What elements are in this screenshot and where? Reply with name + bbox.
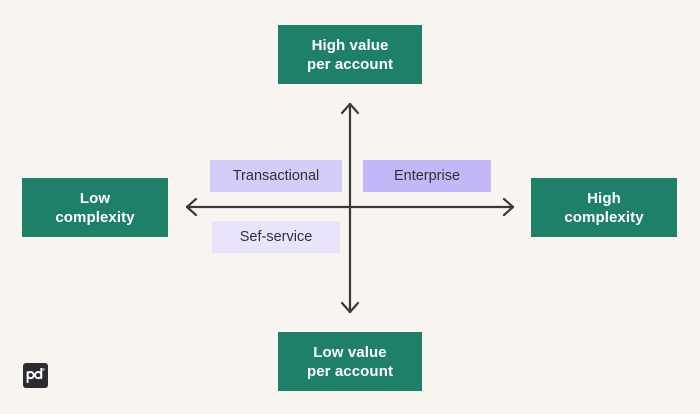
axis-label-high-value: High value per account — [278, 25, 422, 84]
segment-enterprise: Enterprise — [363, 160, 491, 192]
axis-label-low-value: Low value per account — [278, 332, 422, 391]
axis-label-high-complexity: High complexity — [531, 178, 677, 237]
axis-label-high-complexity-line1: High — [564, 189, 643, 208]
axis-label-low-complexity-line2: complexity — [55, 208, 134, 227]
pandadoc-logo — [23, 363, 48, 388]
axis-label-high-value-line1: High value — [307, 36, 393, 55]
axis-label-high-complexity-line2: complexity — [564, 208, 643, 227]
diagram-canvas: High value per account Low value per acc… — [0, 0, 700, 414]
pandadoc-logo-icon — [26, 368, 45, 383]
axis-label-high-value-line2: per account — [307, 55, 393, 74]
axis-label-low-value-line2: per account — [307, 362, 393, 381]
axis-label-low-complexity-line1: Low — [55, 189, 134, 208]
axis-label-low-value-line1: Low value — [307, 343, 393, 362]
segment-transactional: Transactional — [210, 160, 342, 192]
axis-label-low-complexity: Low complexity — [22, 178, 168, 237]
segment-self-service: Sef-service — [212, 221, 340, 253]
